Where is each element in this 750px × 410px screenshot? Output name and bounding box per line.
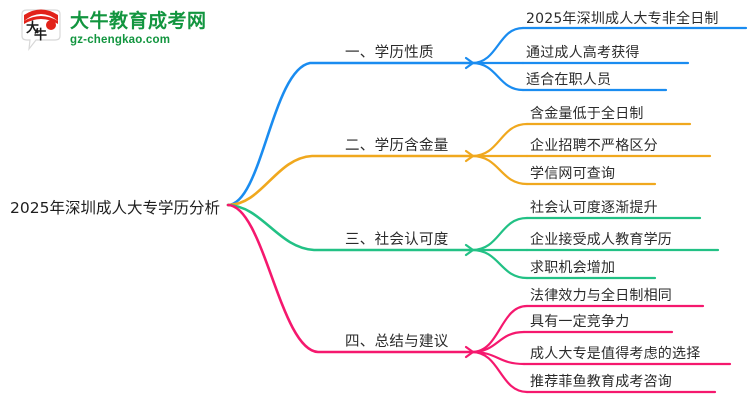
leaf-label-3-3[interactable]: 求职机会增加: [530, 257, 615, 277]
connector-branch-4-leaf-1: [472, 306, 527, 352]
leaf-label-2-3[interactable]: 学信网可查询: [530, 163, 615, 183]
connector-branch-1-leaf-1: [472, 28, 523, 63]
leaf-label-1-1[interactable]: 2025年深圳成人大专非全日制: [526, 8, 719, 28]
connector-branch-1-leaf-3: [472, 63, 523, 90]
leaf-label-4-3[interactable]: 成人大专是值得考虑的选择: [530, 343, 700, 363]
leaf-label-3-2[interactable]: 企业接受成人教育学历: [530, 229, 672, 249]
root-node-label[interactable]: 2025年深圳成人大专学历分析: [10, 196, 220, 218]
leaf-label-1-2[interactable]: 通过成人高考获得: [526, 42, 640, 62]
connector-root-branch-2: [228, 156, 472, 205]
mindmap-canvas: 大 牛 大牛教育成考网 gz-chengkao.com: [0, 0, 750, 410]
leaf-label-4-1[interactable]: 法律效力与全日制相同: [530, 285, 672, 305]
leaf-label-3-1[interactable]: 社会认可度逐渐提升: [530, 197, 658, 217]
branch-label-1[interactable]: 一、学历性质: [345, 41, 434, 62]
leaf-label-2-1[interactable]: 含金量低于全日制: [530, 103, 644, 123]
connector-branch-3-leaf-3: [472, 250, 527, 278]
leaf-label-2-2[interactable]: 企业招聘不严格区分: [530, 135, 658, 155]
leaf-label-4-4[interactable]: 推荐菲鱼教育成考咨询: [530, 371, 672, 391]
branch-label-3[interactable]: 三、社会认可度: [345, 228, 449, 249]
connector-branch-2-leaf-1: [472, 124, 527, 156]
connector-branch-4-leaf-2: [472, 332, 524, 352]
connector-branch-2-leaf-3: [472, 156, 527, 184]
branch-label-2[interactable]: 二、学历含金量: [345, 134, 449, 155]
leaf-label-1-3[interactable]: 适合在职人员: [526, 69, 611, 89]
connector-branch-3-leaf-1: [472, 218, 527, 250]
branch-label-4[interactable]: 四、总结与建议: [345, 330, 449, 351]
leaf-label-4-2[interactable]: 具有一定竞争力: [530, 311, 629, 331]
